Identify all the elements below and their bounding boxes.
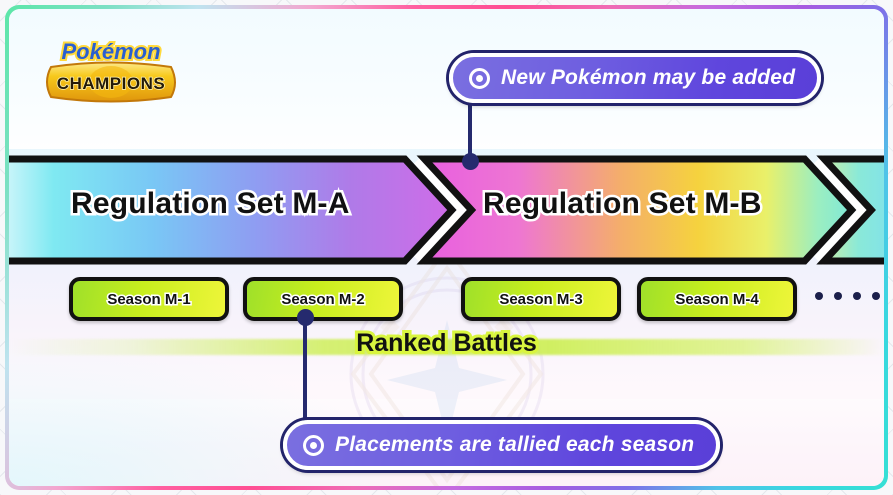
season-chip-3-label: Season M-4 <box>675 291 758 308</box>
connector-dot-bottom <box>297 309 314 326</box>
slide-canvas: Pokémon CHAMPIONS <box>9 9 884 486</box>
connector-line-bottom <box>303 314 307 422</box>
ellipsis-dot <box>834 292 842 300</box>
target-icon <box>469 68 490 89</box>
connector-dot-top <box>462 153 479 170</box>
logo-champions-text: CHAMPIONS <box>57 74 165 93</box>
logo-pokemon-text: Pokémon <box>61 39 160 64</box>
season-chip-2[interactable]: Season M-3 <box>461 277 621 321</box>
target-icon <box>303 435 324 456</box>
regulation-set-0-label: Regulation Set M-A <box>71 187 350 221</box>
season-chip-0-label: Season M-1 <box>107 291 190 308</box>
season-continuation-ellipsis <box>815 292 880 300</box>
callout-new-pokemon[interactable]: New Pokémon may be added <box>449 53 821 103</box>
regulation-set-1-label: Regulation Set M-B <box>483 187 762 221</box>
ellipsis-dot <box>853 292 861 300</box>
callout-new-pokemon-text: New Pokémon may be added <box>501 66 795 90</box>
rainbow-frame: Pokémon CHAMPIONS <box>5 5 888 490</box>
pokemon-champions-logo: Pokémon CHAMPIONS <box>37 31 185 107</box>
ellipsis-dot <box>815 292 823 300</box>
season-chip-0[interactable]: Season M-1 <box>69 277 229 321</box>
season-chip-1[interactable]: Season M-2 <box>243 277 403 321</box>
season-chip-1-label: Season M-2 <box>281 291 364 308</box>
callout-placements[interactable]: Placements are tallied each season <box>283 420 720 470</box>
season-chip-2-label: Season M-3 <box>499 291 582 308</box>
season-chip-3[interactable]: Season M-4 <box>637 277 797 321</box>
ranked-battles-label: Ranked Battles <box>9 329 884 358</box>
callout-placements-text: Placements are tallied each season <box>335 433 694 457</box>
ellipsis-dot <box>872 292 880 300</box>
